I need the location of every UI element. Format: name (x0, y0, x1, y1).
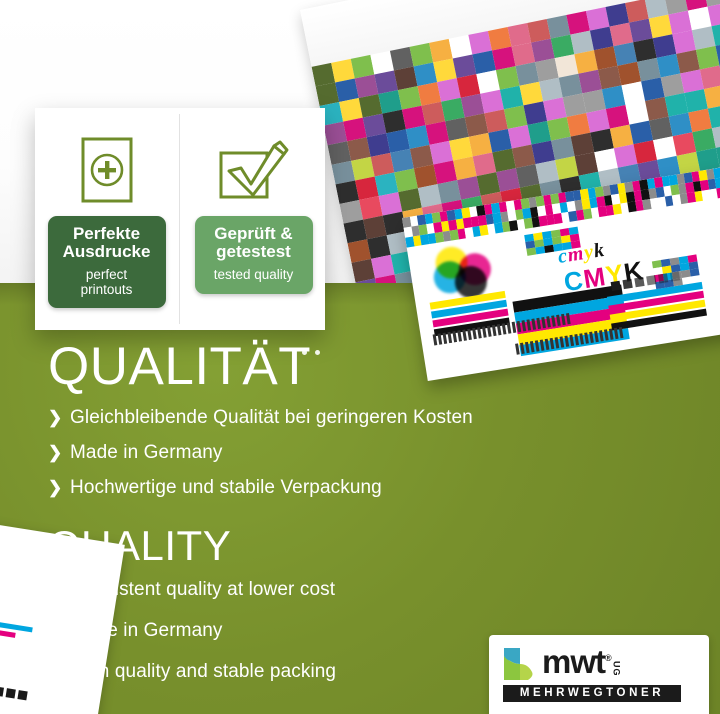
bullet-list-de: ❯ Gleichbleibende Qualität bei geringere… (48, 407, 608, 499)
list-item: ❯ Hochwertige und stabile Verpackung (48, 477, 608, 499)
card-divider (179, 114, 180, 324)
poster-canvas: cmyk CMYK (0, 0, 720, 714)
logo-wordmark: mwt® (542, 647, 611, 677)
mwt-pinwheel-icon (503, 647, 537, 681)
chevron-right-icon: ❯ (48, 478, 70, 498)
card-title-en: tested quality (201, 268, 307, 282)
registered-trademark-icon: ® (605, 653, 611, 663)
card-title-en: perfect printouts (54, 268, 160, 296)
cmy-rosette-icon (429, 240, 500, 297)
list-item-label: Hochwertige und stabile Verpackung (70, 477, 382, 499)
card-title-de: Perfekte Ausdrucke (54, 225, 160, 260)
list-item-label: Consistent quality at lower cost (70, 579, 335, 601)
card-badge-tested-quality: Geprüft & getestest tested quality (195, 216, 313, 294)
logo-banner: MEHRWEGTONER (503, 685, 681, 702)
feature-card-perfect-printouts[interactable]: Perfekte Ausdrucke perfect printouts (35, 108, 178, 330)
list-item: ❯ Consistent quality at lower cost (48, 579, 608, 601)
list-item: ❯ Gleichbleibende Qualität bei geringere… (48, 407, 608, 429)
page-plus-icon (80, 130, 134, 210)
list-item-label: High quality and stable packing (70, 661, 336, 683)
headline-de: QUALITÄT (48, 340, 608, 393)
chevron-right-icon: ❯ (48, 662, 70, 682)
chevron-right-icon: ❯ (48, 408, 70, 428)
feature-card-tested-quality[interactable]: Geprüft & getestest tested quality (182, 108, 325, 330)
list-item-label: Made in Germany (70, 620, 223, 642)
list-item-label: Made in Germany (70, 442, 223, 464)
feature-cards-panel: Perfekte Ausdrucke perfect printouts (35, 108, 325, 330)
card-title-de: Geprüft & getestest (201, 225, 307, 260)
card-badge-perfect-printouts: Perfekte Ausdrucke perfect printouts (48, 216, 166, 308)
logo-suffix: UG (612, 661, 622, 677)
list-item-label: Gleichbleibende Qualität bei geringeren … (70, 407, 473, 429)
headline-en: QUALITY (48, 525, 608, 567)
chevron-right-icon: ❯ (48, 443, 70, 463)
list-item: ❯ Made in Germany (48, 442, 608, 464)
brand-logo[interactable]: mwt® UG MEHRWEGTONER (489, 635, 709, 714)
checkbox-check-icon (218, 130, 290, 210)
chevron-right-icon: ❯ (48, 580, 70, 600)
chevron-right-icon: ❯ (48, 621, 70, 641)
